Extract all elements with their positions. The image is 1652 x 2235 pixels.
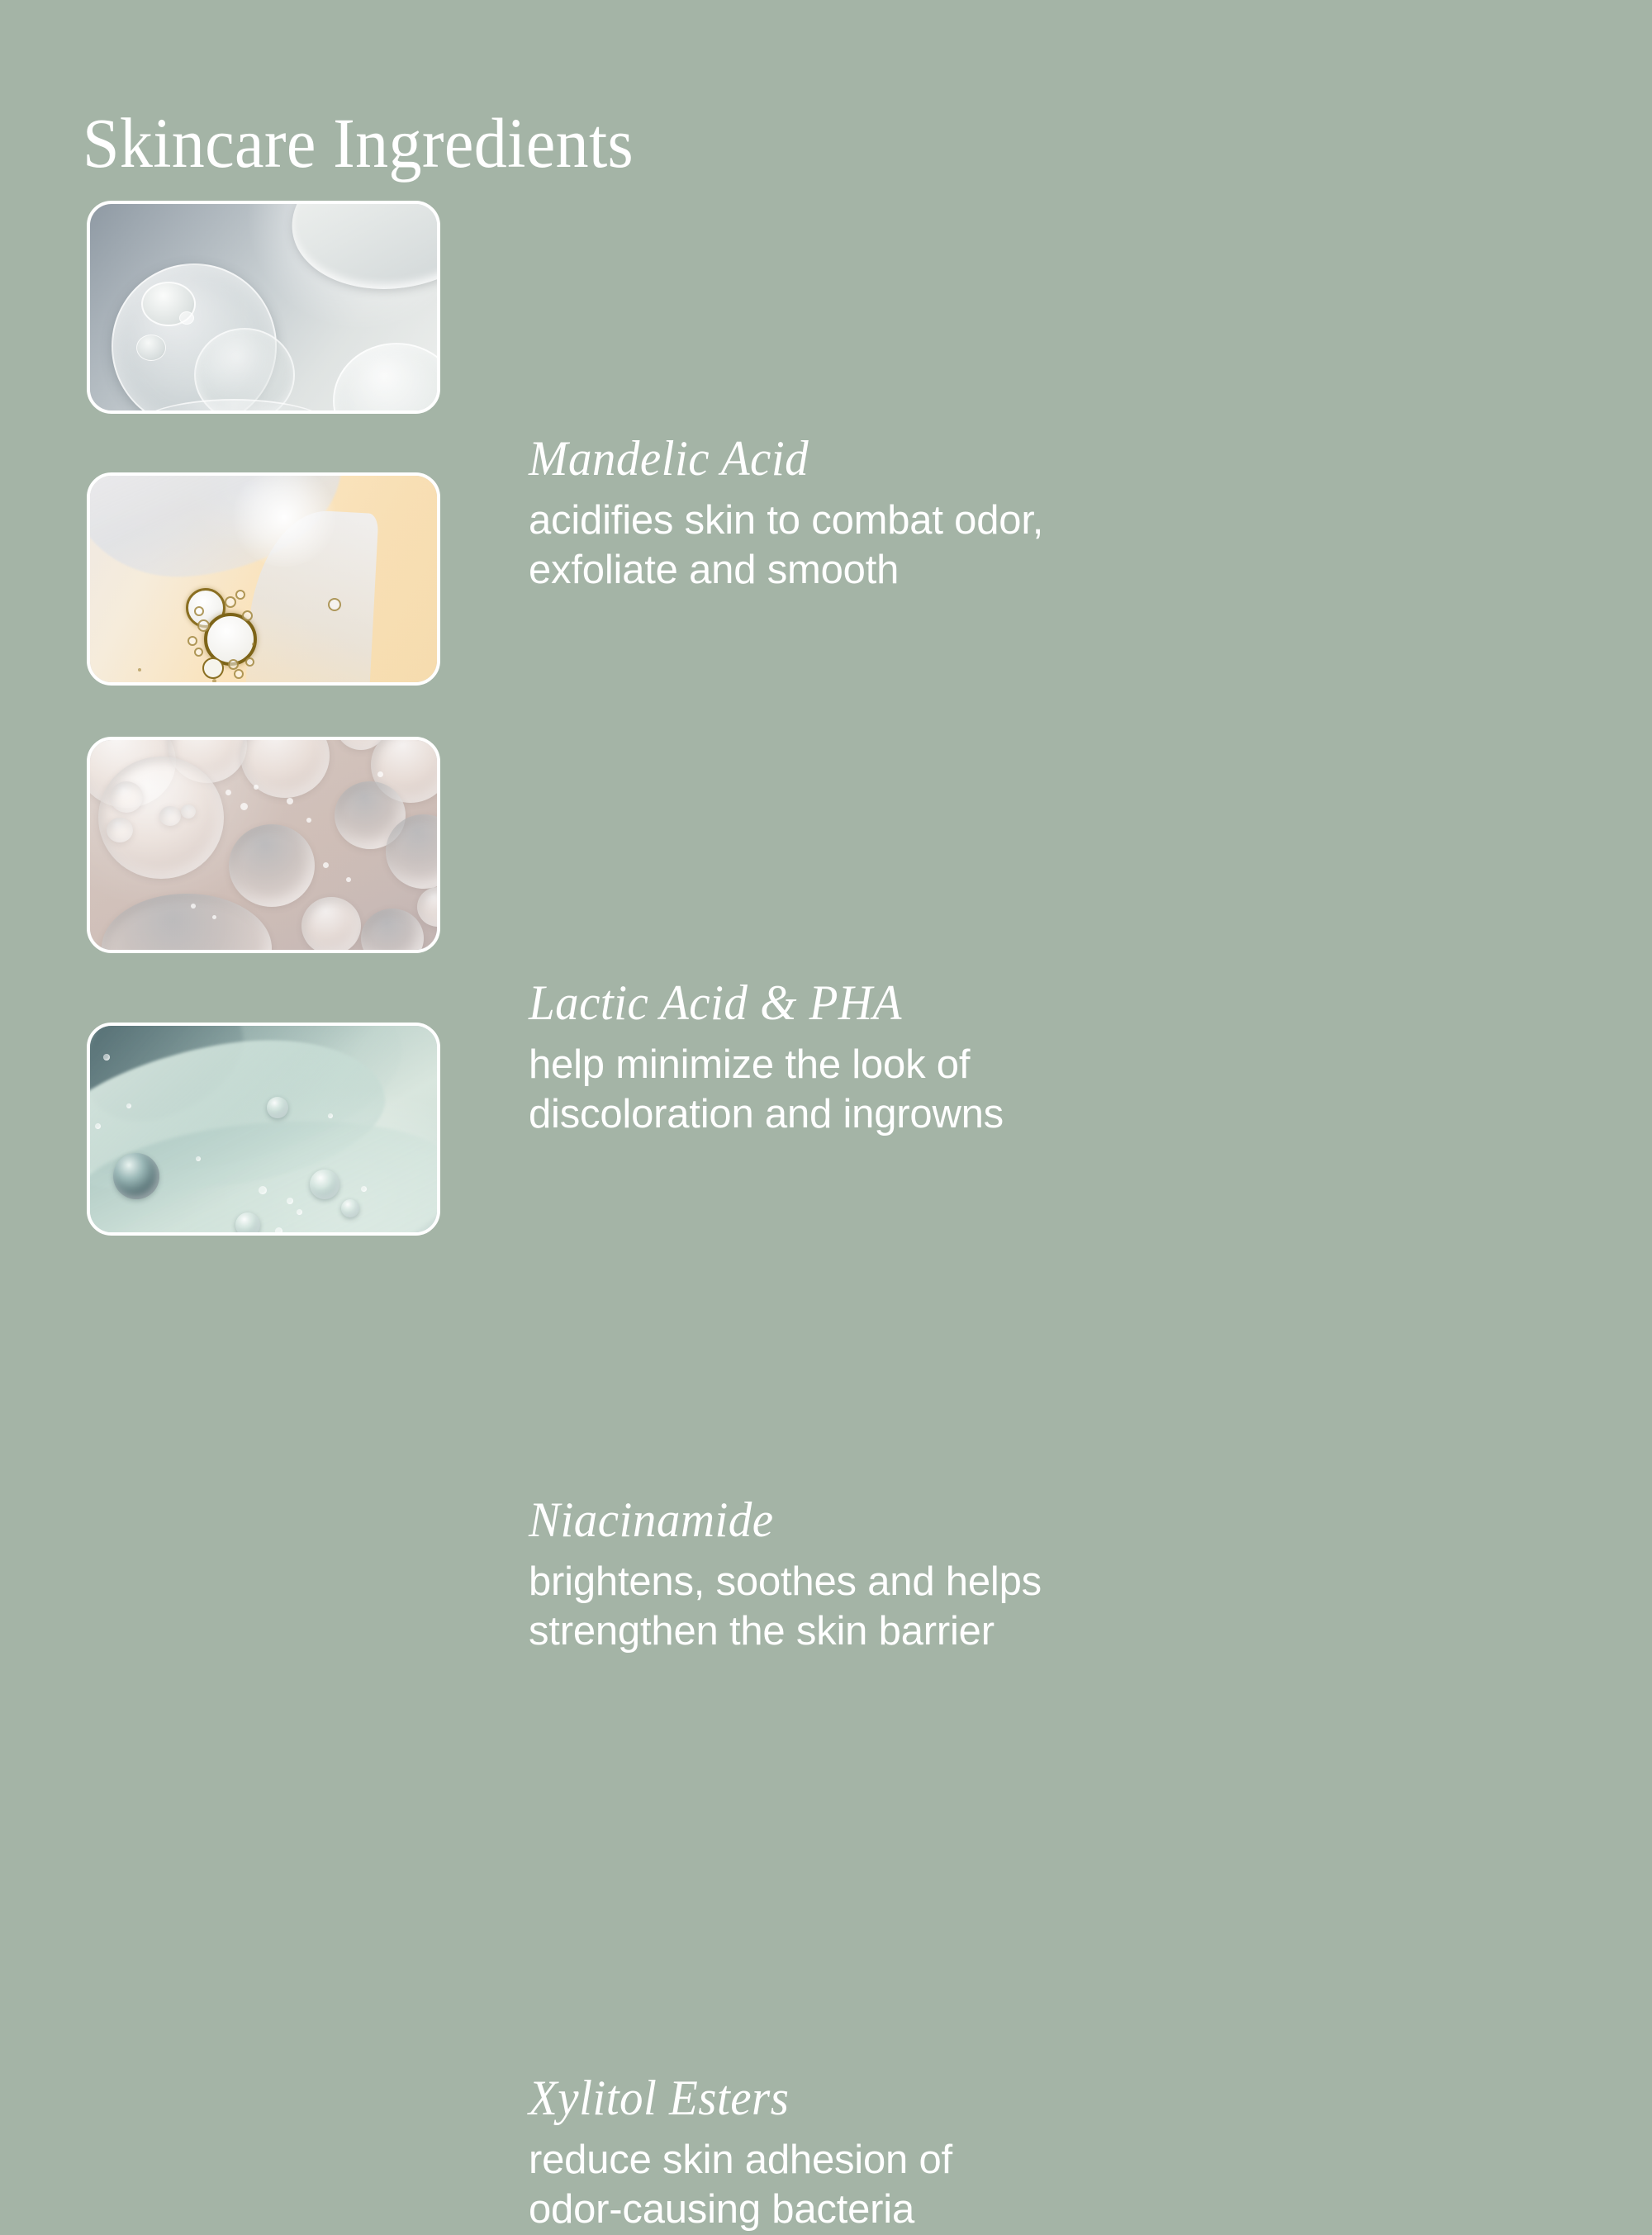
oil-bubble-icon bbox=[333, 343, 440, 414]
ingredient-name: Niacinamide bbox=[529, 1495, 1125, 1545]
water-droplet-icon bbox=[310, 1170, 339, 1199]
oil-bubble-icon bbox=[188, 636, 197, 646]
oil-speck bbox=[225, 790, 231, 795]
oil-speck bbox=[254, 785, 259, 790]
list-item: Xylitol Esters reduce skin adhesion of o… bbox=[0, 1023, 1652, 1237]
oil-speck bbox=[240, 803, 248, 810]
mauve-bubbles-texture-image bbox=[88, 738, 439, 951]
water-droplet-icon bbox=[297, 1209, 302, 1215]
oil-bubble-icon bbox=[181, 804, 196, 819]
ingredient-thumbnail bbox=[87, 201, 440, 414]
oil-bubble-icon bbox=[225, 596, 236, 608]
ingredient-thumbnail bbox=[87, 737, 440, 953]
oil-bubble-icon bbox=[202, 657, 224, 679]
oil-bubble-icon bbox=[194, 606, 204, 616]
oil-speck bbox=[346, 877, 351, 882]
oil-bubble-icon bbox=[242, 610, 253, 621]
ingredient-thumbnail bbox=[87, 1023, 440, 1236]
oil-bubble-icon bbox=[197, 619, 210, 632]
amber-oil-texture-image bbox=[88, 474, 439, 684]
oil-speck bbox=[323, 862, 329, 868]
page-title: Skincare Ingredients bbox=[83, 107, 634, 178]
ingredient-thumbnail bbox=[87, 472, 440, 686]
oil-speck bbox=[212, 915, 216, 919]
water-droplet-icon bbox=[267, 1097, 288, 1118]
oil-bubble-icon bbox=[234, 669, 244, 679]
oil-bubble-icon bbox=[102, 894, 272, 953]
ingredient-name: Lactic Acid & PHA bbox=[529, 978, 1125, 1027]
oil-bubble-icon bbox=[245, 657, 254, 667]
oil-speck bbox=[377, 771, 383, 777]
oil-bubble-icon bbox=[136, 335, 166, 361]
water-droplet-icon bbox=[275, 1227, 282, 1235]
ingredient-text: Niacinamide brightens, soothes and helps… bbox=[529, 1495, 1156, 1657]
oil-disc-icon bbox=[282, 201, 440, 302]
water-droplet-icon bbox=[126, 1103, 131, 1108]
oil-bubble-icon bbox=[179, 311, 194, 325]
oil-bubble-icon bbox=[194, 648, 203, 657]
ingredients-infographic: Skincare Ingredients Mandelic Acid acidi… bbox=[0, 0, 1652, 1652]
water-droplet-icon bbox=[103, 1054, 110, 1061]
oil-speck bbox=[138, 668, 141, 671]
water-droplet-icon bbox=[95, 1123, 101, 1129]
water-droplet-icon bbox=[235, 1212, 260, 1236]
ingredient-text: Xylitol Esters reduce skin adhesion of o… bbox=[529, 2073, 1156, 2235]
water-droplet-icon bbox=[196, 1156, 201, 1161]
oil-bubble-icon bbox=[110, 781, 143, 813]
silver-oil-texture-image bbox=[88, 202, 439, 412]
oil-bubble-icon bbox=[229, 824, 315, 907]
ingredient-description: brightens, soothes and helps strengthen … bbox=[529, 1558, 1156, 1657]
oil-speck bbox=[287, 798, 293, 804]
list-item: Niacinamide brightens, soothes and helps… bbox=[0, 737, 1652, 951]
oil-speck bbox=[191, 904, 196, 909]
oil-bubble-icon bbox=[159, 806, 181, 826]
water-droplet-icon bbox=[341, 1199, 359, 1217]
water-droplet-icon bbox=[113, 1153, 159, 1199]
teal-gel-texture-image bbox=[88, 1024, 439, 1234]
ingredient-description: reduce skin adhesion of odor-causing bac… bbox=[529, 2136, 1156, 2235]
oil-bubble-icon bbox=[228, 659, 239, 670]
water-droplet-icon bbox=[287, 1198, 293, 1204]
oil-bubble-icon bbox=[361, 909, 424, 953]
oil-speck bbox=[306, 818, 311, 823]
oil-speck bbox=[212, 679, 216, 683]
ingredient-name: Xylitol Esters bbox=[529, 2073, 1125, 2123]
list-item: Mandelic Acid acidifies skin to combat o… bbox=[0, 201, 1652, 415]
water-droplet-icon bbox=[361, 1186, 367, 1192]
oil-bubble-icon bbox=[235, 590, 245, 600]
oil-bubble-icon bbox=[417, 887, 440, 927]
oil-bubble-icon bbox=[328, 598, 341, 611]
oil-bubble-icon bbox=[301, 897, 361, 953]
oil-bubble-icon bbox=[107, 818, 133, 842]
oil-speck bbox=[252, 643, 255, 646]
water-droplet-icon bbox=[259, 1186, 267, 1194]
water-droplet-icon bbox=[328, 1113, 333, 1118]
list-item: Lactic Acid & PHA help minimize the look… bbox=[0, 472, 1652, 687]
